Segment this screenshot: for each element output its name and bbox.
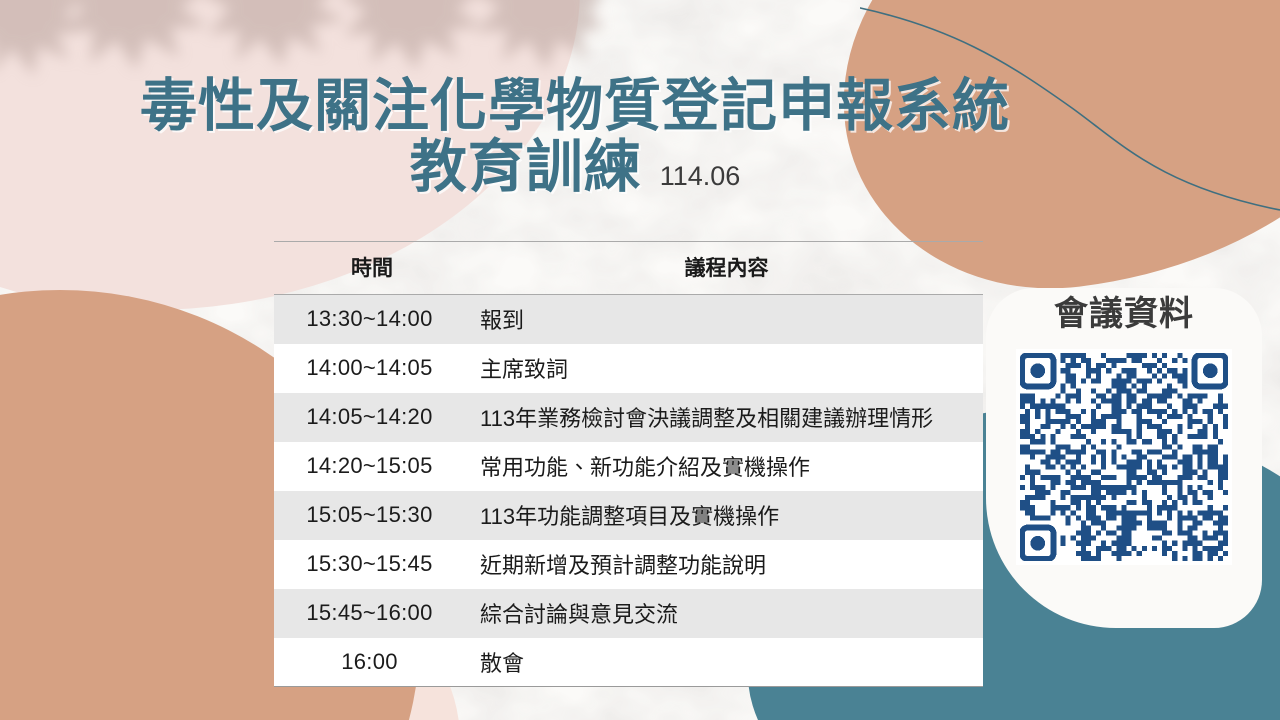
agenda-row: 15:30~15:45近期新增及預計調整功能說明 <box>274 540 983 589</box>
agenda-row-topic: 主席致詞 <box>470 344 983 393</box>
agenda-row: 15:45~16:00綜合討論與意見交流 <box>274 589 983 638</box>
agenda-row: 15:05~15:30 113年功能調整項目及實機操作 <box>274 491 983 540</box>
agenda-row-topic: 散會 <box>470 638 983 687</box>
page-title-line2: 教育訓練 <box>410 137 642 198</box>
agenda-row-time: 13:30~14:00 <box>274 295 470 344</box>
meeting-materials-heading: 會議資料 <box>1000 286 1248 335</box>
page-title-line2-row: 教育訓練 114.06 <box>410 137 741 198</box>
slide-canvas: 毒性及關注化學物質登記申報系統 教育訓練 114.06 時間 議程內容 13:3… <box>0 0 1280 720</box>
agenda-row: 16:00散會 <box>274 638 983 687</box>
qr-code-icon[interactable] <box>1016 349 1232 565</box>
agenda-row-time: 15:45~16:00 <box>274 589 470 638</box>
title-block: 毒性及關注化學物質登記申報系統 教育訓練 114.06 <box>0 76 1150 198</box>
agenda-row: 14:05~14:20113年業務檢討會決議調整及相關建議辦理情形 <box>274 393 983 442</box>
agenda-row-topic: 113年功能調整項目及實機操作 <box>470 491 983 540</box>
agenda-row-topic: 113年業務檢討會決議調整及相關建議辦理情形 <box>470 393 983 442</box>
agenda-row-time: 14:20~15:05 <box>274 442 470 491</box>
agenda-table: 時間 議程內容 13:30~14:00報到14:00~14:05主席致詞14:0… <box>274 241 983 687</box>
page-title-line1: 毒性及關注化學物質登記申報系統 <box>0 76 1150 137</box>
agenda-row-time: 15:30~15:45 <box>274 540 470 589</box>
slide-content: 毒性及關注化學物質登記申報系統 教育訓練 114.06 時間 議程內容 13:3… <box>0 0 1280 720</box>
agenda-row: 14:00~14:05主席致詞 <box>274 344 983 393</box>
agenda-row: 14:20~15:05常用功能、新功能介紹及實機操作 <box>274 442 983 491</box>
agenda-row-time: 16:00 <box>274 638 470 687</box>
agenda-row-topic: 常用功能、新功能介紹及實機操作 <box>470 442 983 491</box>
column-header-time: 時間 <box>274 242 470 295</box>
agenda-row-topic: 報到 <box>470 295 983 344</box>
agenda-table-body: 13:30~14:00報到14:00~14:05主席致詞14:05~14:201… <box>274 295 983 687</box>
agenda-row: 13:30~14:00報到 <box>274 295 983 344</box>
agenda-table-head: 時間 議程內容 <box>274 242 983 295</box>
agenda-row-time: 15:05~15:30 <box>274 491 470 540</box>
column-header-topic: 議程內容 <box>470 242 983 295</box>
agenda-row-time: 14:05~14:20 <box>274 393 470 442</box>
agenda-header-row: 時間 議程內容 <box>274 242 983 295</box>
meeting-materials-block: 會議資料 <box>1000 286 1248 565</box>
agenda-row-time: 14:00~14:05 <box>274 344 470 393</box>
agenda-row-topic: 近期新增及預計調整功能說明 <box>470 540 983 589</box>
agenda-row-topic: 綜合討論與意見交流 <box>470 589 983 638</box>
title-date: 114.06 <box>660 162 741 198</box>
